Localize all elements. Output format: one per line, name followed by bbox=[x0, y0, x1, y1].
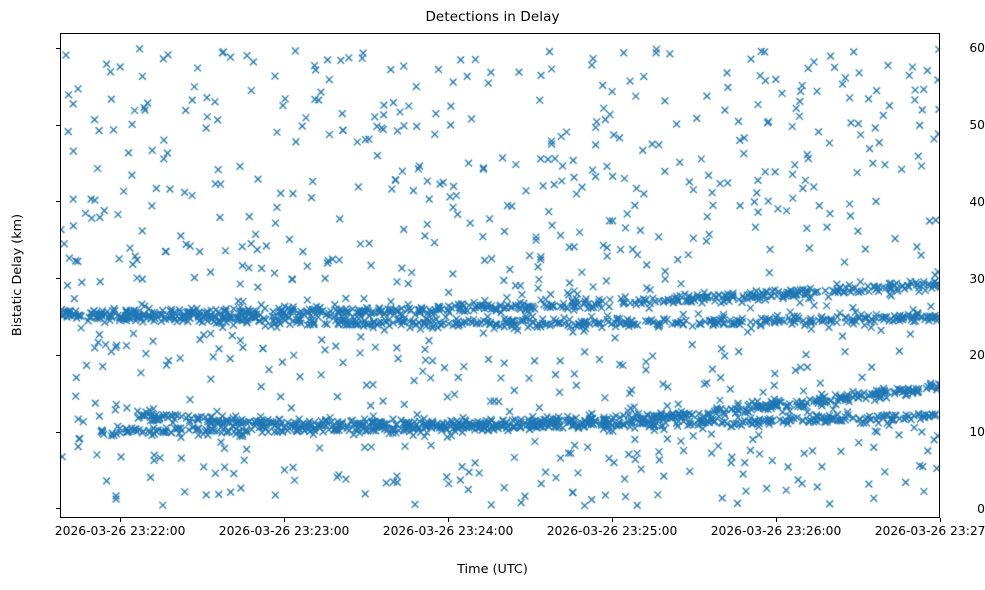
x-tick-label: 2026-03-26 23:23:00 bbox=[184, 524, 384, 538]
page-title: Detections in Delay bbox=[0, 9, 985, 25]
x-tick-label: 2026-03-26 23:26:00 bbox=[676, 524, 876, 538]
x-tick-label: 2026-03-26 23:25:00 bbox=[512, 524, 712, 538]
y-tick-label: 0 bbox=[941, 502, 985, 516]
x-axis-label: Time (UTC) bbox=[0, 562, 985, 577]
x-tick-mark bbox=[776, 518, 777, 522]
y-tick-label: 10 bbox=[941, 425, 985, 439]
y-axis-label: Bistatic Delay (km) bbox=[10, 214, 25, 336]
x-tick-mark bbox=[612, 518, 613, 522]
y-tick-label: 20 bbox=[941, 348, 985, 362]
scatter-plot-canvas[interactable] bbox=[61, 34, 940, 518]
x-tick-label: 2026-03-26 23:22:00 bbox=[20, 524, 220, 538]
x-tick-mark bbox=[120, 518, 121, 522]
y-tick-label: 40 bbox=[941, 195, 985, 209]
x-tick-label: 2026-03-26 23:24:00 bbox=[348, 524, 548, 538]
matplotlib-figure: Detections in Delay Bistatic Delay (km) … bbox=[0, 0, 985, 590]
y-tick-label: 50 bbox=[941, 118, 985, 132]
y-tick-label: 60 bbox=[941, 41, 985, 55]
x-tick-mark bbox=[284, 518, 285, 522]
y-tick-label: 30 bbox=[941, 272, 985, 286]
x-tick-label: 2026-03-26 23:27:00 bbox=[840, 524, 985, 538]
x-tick-mark bbox=[448, 518, 449, 522]
x-tick-mark bbox=[940, 518, 941, 522]
plot-area[interactable] bbox=[60, 33, 940, 518]
